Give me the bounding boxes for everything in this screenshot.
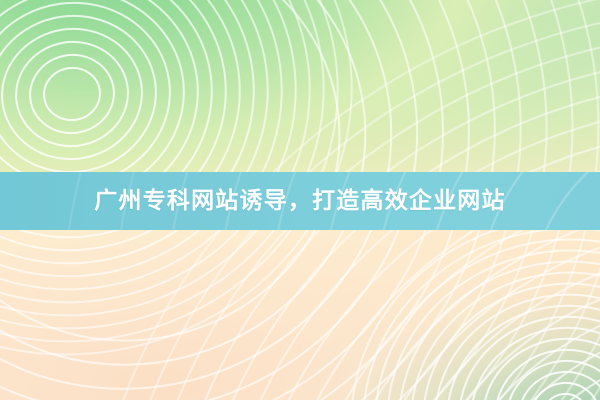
banner-image: 广州专科网站诱导，打造高效企业网站	[0, 0, 600, 400]
title-band: 广州专科网站诱导，打造高效企业网站	[0, 172, 600, 230]
banner-title: 广州专科网站诱导，打造高效企业网站	[0, 172, 600, 230]
